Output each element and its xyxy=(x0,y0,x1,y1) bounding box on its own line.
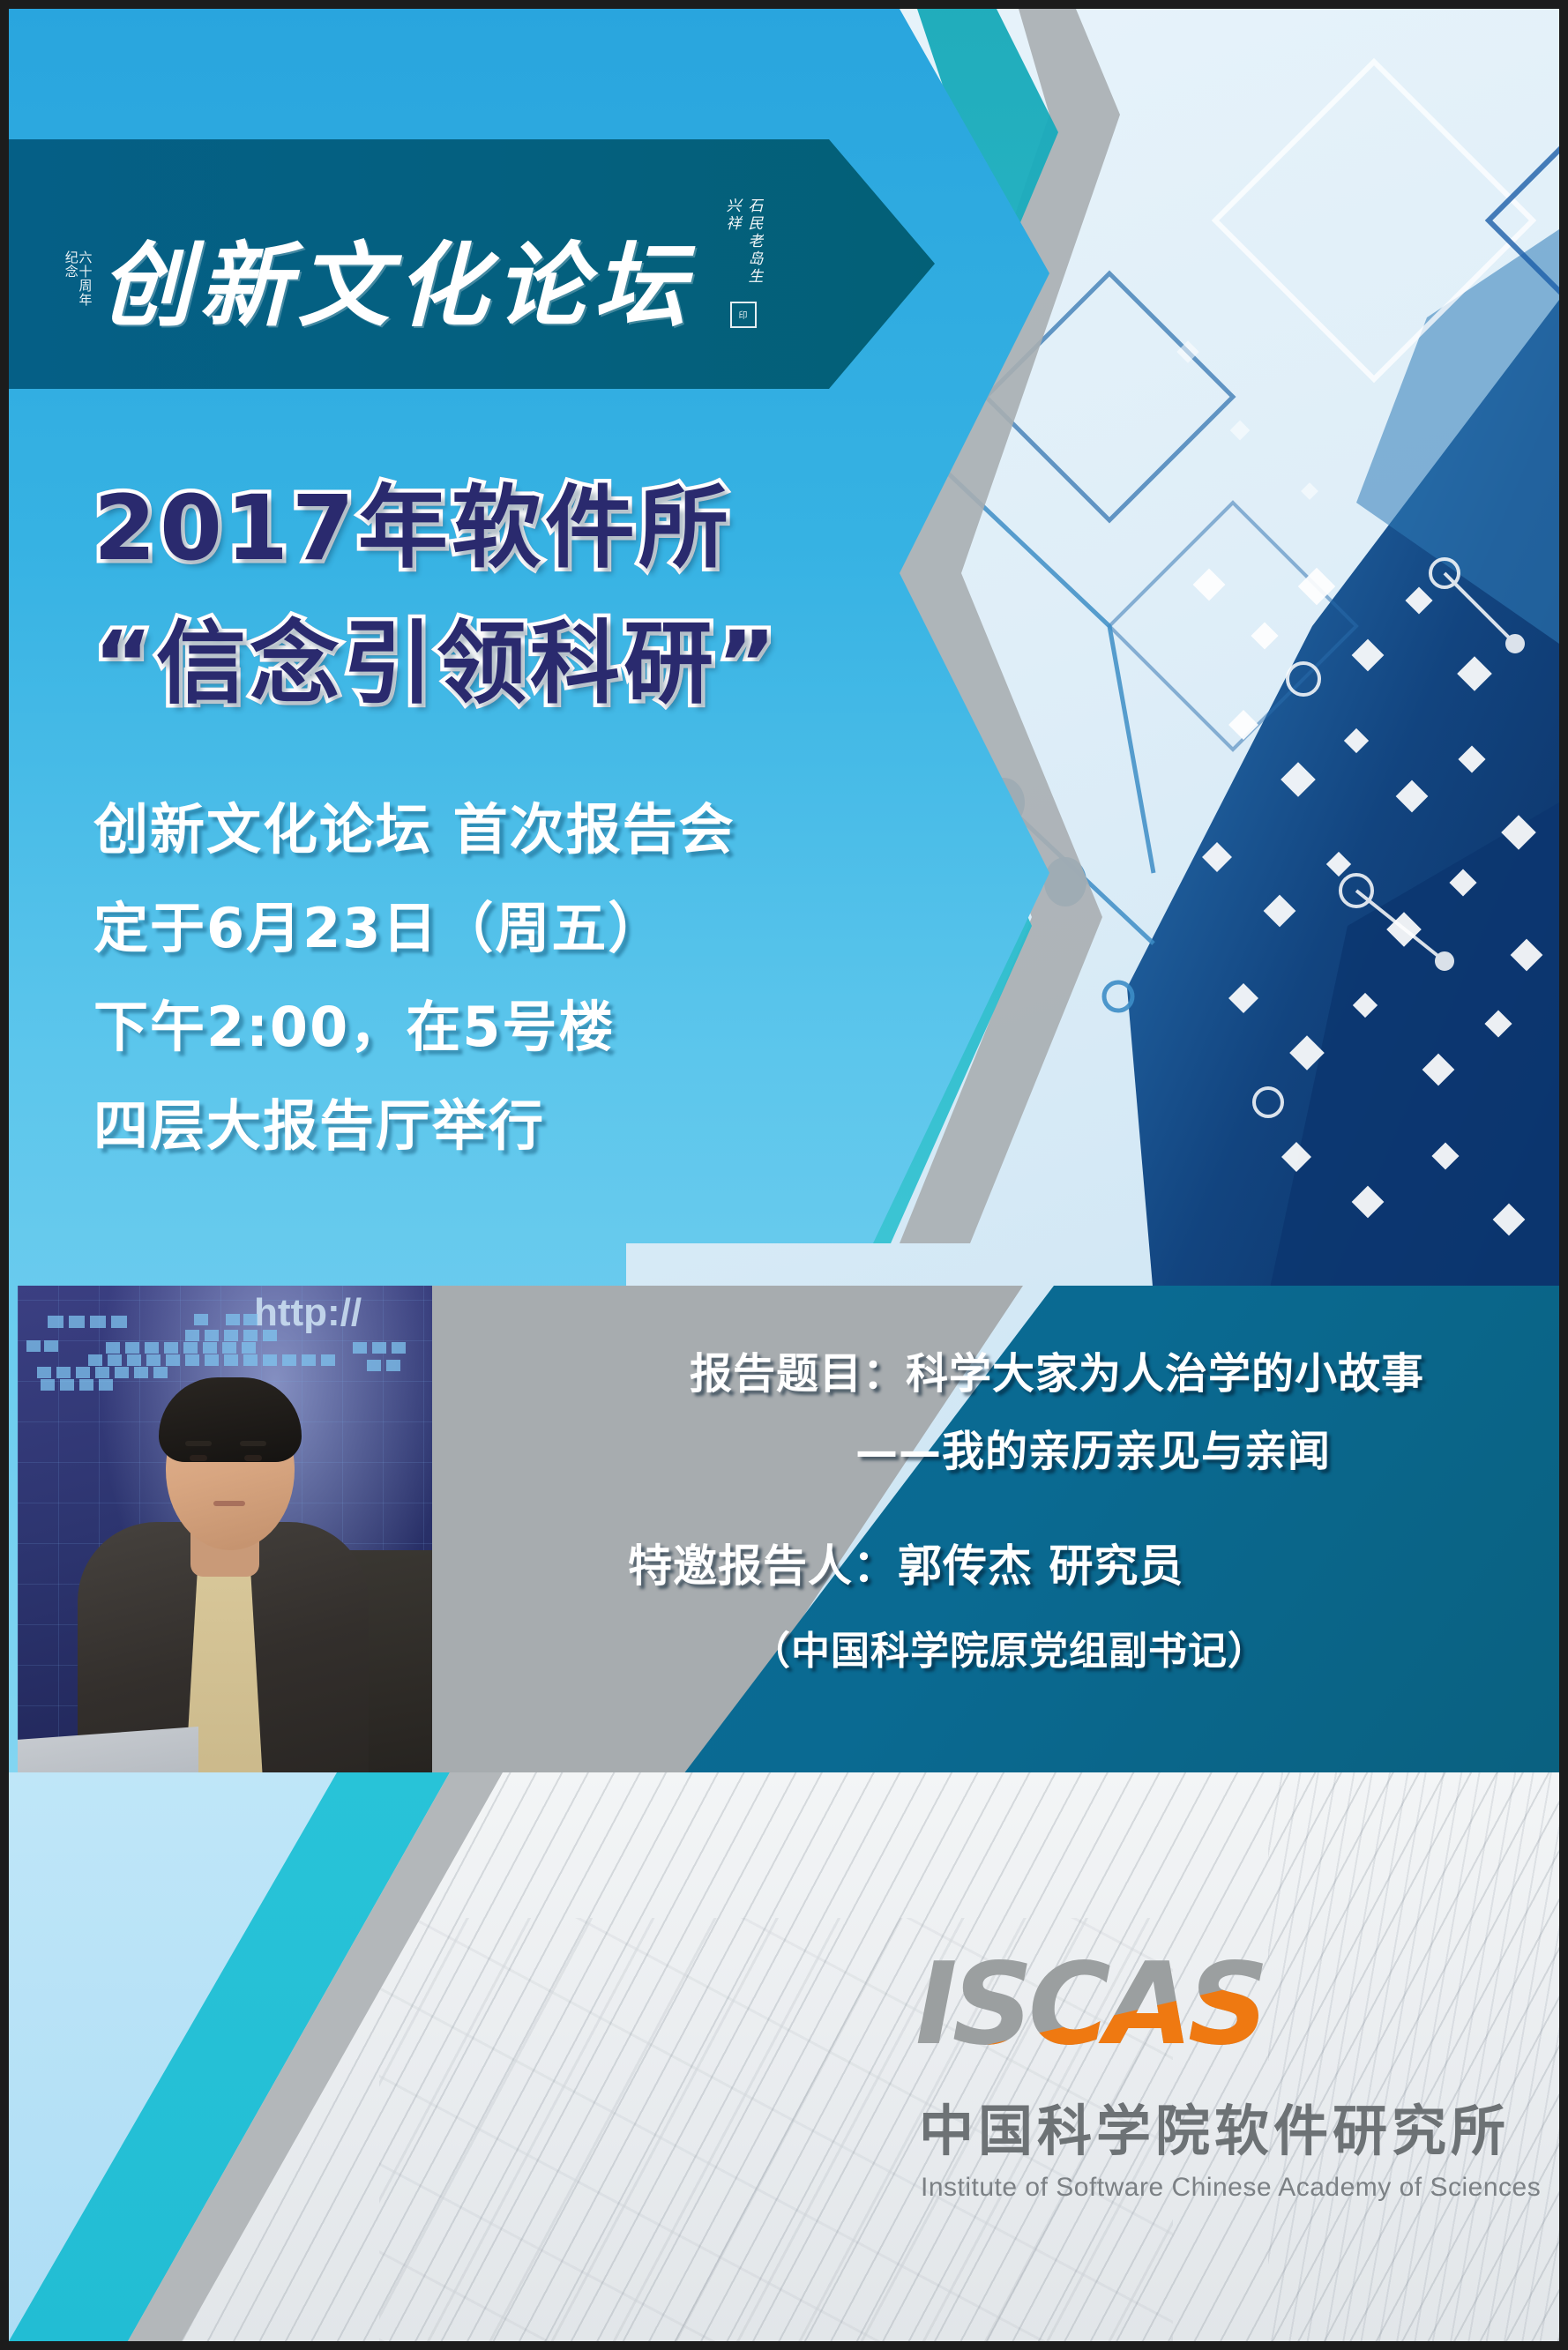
main-title-line-2: “信念引领科研” xyxy=(93,612,870,718)
event-info-line-1: 创新文化论坛 首次报告会 xyxy=(93,802,887,857)
speaker-text-group: 报告题目：科学大家为人治学的小故事 ——我的亲历亲见与亲闻 特邀报告人：郭传杰 … xyxy=(503,1286,1568,1832)
signature-group: 石民老岛生兴祥 印 xyxy=(721,198,765,328)
photo-backdrop-text: http:// xyxy=(254,1291,362,1335)
calligraphy-group: 六十周年纪念 创新文化论坛 石民老岛生兴祥 印 xyxy=(63,198,765,332)
event-info-line-2: 定于6月23日（周五） xyxy=(93,901,887,956)
event-info-block: 创新文化论坛 首次报告会 定于6月23日（周五） 下午2:00，在5号楼 四层大… xyxy=(93,802,887,1197)
photo-person-mouth xyxy=(213,1501,245,1506)
iscas-wordmark-icon: ISCAS ISCAS xyxy=(915,1949,1374,2081)
speaker-affiliation: （中国科学院原党组副书记） xyxy=(751,1619,1267,1675)
seal-stamp-icon: 印 xyxy=(730,302,757,328)
poster-root: 六十周年纪念 创新文化论坛 石民老岛生兴祥 印 2017年软件所 “信念引领科研… xyxy=(0,0,1568,2350)
speaker-photo: http:// xyxy=(18,1286,432,1828)
event-info-line-3: 下午2:00，在5号楼 xyxy=(93,1000,887,1055)
calligraphy-title: 创新文化论坛 xyxy=(101,240,693,332)
institute-name-cn: 中国科学院软件研究所 xyxy=(919,2086,1482,2166)
main-title-line-1: 2017年软件所 xyxy=(93,476,870,582)
speaker-name: 特邀报告人：郭传杰 研究员 xyxy=(628,1531,1183,1594)
side-inscription: 六十周年纪念 xyxy=(63,250,92,309)
iscas-logo: ISCAS ISCAS 中国科学院软件研究所 Institute of Soft… xyxy=(900,1949,1482,2203)
header-banner: 六十周年纪念 创新文化论坛 石民老岛生兴祥 印 xyxy=(9,139,935,389)
event-info-line-4: 四层大报告厅举行 xyxy=(93,1099,887,1153)
talk-title: 报告题目：科学大家为人治学的小故事 xyxy=(690,1339,1424,1400)
main-title-block: 2017年软件所 “信念引领科研” xyxy=(93,476,870,742)
institute-name-en: Institute of Software Chinese Academy of… xyxy=(921,2173,1482,2203)
photo-person-hair xyxy=(159,1377,302,1462)
talk-subtitle: ——我的亲历亲见与亲闻 xyxy=(855,1416,1331,1478)
signature-text: 石民老岛生兴祥 xyxy=(721,198,765,296)
